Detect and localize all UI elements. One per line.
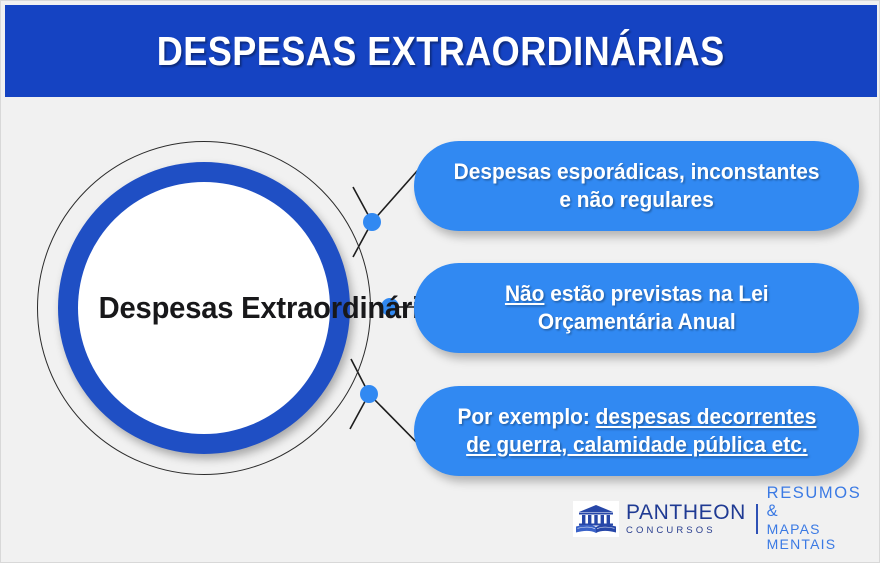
logo-tagline-text: CONCURSOS: [626, 526, 746, 536]
branch-box-2-label: Não estão previstas na LeiOrçamentária A…: [505, 280, 769, 336]
pantheon-temple-book-icon: [573, 501, 619, 537]
blue-ring: Despesas Extraordinárias: [58, 162, 350, 454]
branch-box-3-label: Por exemplo: despesas decorrentesde guer…: [457, 403, 816, 459]
slide-canvas: DESPESAS EXTRAORDINÁRIAS Despesas Extrao…: [0, 0, 880, 563]
center-disc: Despesas Extraordinárias: [78, 182, 330, 434]
logo-divider: [756, 504, 758, 534]
branch-box-3[interactable]: Por exemplo: despesas decorrentesde guer…: [414, 386, 859, 476]
logo-subtitle: RESUMOS & MAPAS MENTAIS: [767, 485, 879, 553]
logo-wordmark: PANTHEON CONCURSOS: [626, 502, 746, 536]
logo-name-text: PANTHEON: [626, 502, 746, 523]
logo-subtitle-line-1: RESUMOS &: [767, 485, 879, 521]
brand-logo: PANTHEON CONCURSOS RESUMOS & MAPAS MENTA…: [573, 498, 879, 540]
branch-box-1[interactable]: Despesas esporádicas, inconstantese não …: [414, 141, 859, 231]
center-node-label: Despesas Extraordinárias: [78, 288, 452, 327]
branch-box-2[interactable]: Não estão previstas na LeiOrçamentária A…: [414, 263, 859, 353]
branch-box-1-label: Despesas esporádicas, inconstantese não …: [454, 158, 820, 214]
logo-subtitle-line-2: MAPAS MENTAIS: [767, 522, 879, 553]
header-banner: DESPESAS EXTRAORDINÁRIAS: [5, 5, 877, 97]
page-title: DESPESAS EXTRAORDINÁRIAS: [157, 28, 725, 75]
center-node: Despesas Extraordinárias: [37, 141, 371, 475]
